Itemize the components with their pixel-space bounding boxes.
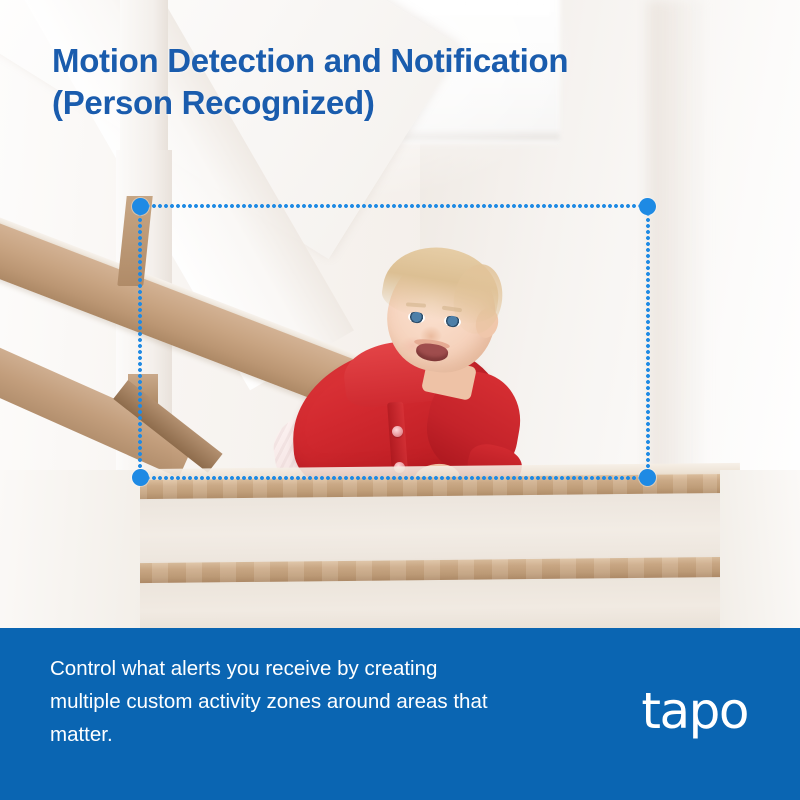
stair-side-wall-right (720, 470, 800, 628)
zone-handle-bottom-right[interactable] (639, 469, 656, 486)
zone-handle-bottom-left[interactable] (132, 469, 149, 486)
stair-side-wall-left (0, 470, 140, 628)
photo-scene: Motion Detection and Notification (Perso… (0, 0, 800, 628)
tapo-logo: tapo (641, 686, 748, 736)
promo-banner: Motion Detection and Notification (Perso… (0, 0, 800, 800)
zone-edge-bottom[interactable] (140, 476, 648, 480)
zone-edge-right[interactable] (646, 206, 650, 478)
activity-zone-overlay[interactable] (140, 206, 648, 478)
zone-edge-left[interactable] (138, 206, 142, 478)
zone-handle-top-left[interactable] (132, 198, 149, 215)
footer-band: Control what alerts you receive by creat… (0, 628, 800, 800)
stair-riser-2 (110, 577, 771, 628)
zone-edge-top[interactable] (140, 204, 648, 208)
zone-handle-top-right[interactable] (639, 198, 656, 215)
footer-caption: Control what alerts you receive by creat… (50, 652, 590, 752)
page-title: Motion Detection and Notification (Perso… (52, 40, 702, 123)
